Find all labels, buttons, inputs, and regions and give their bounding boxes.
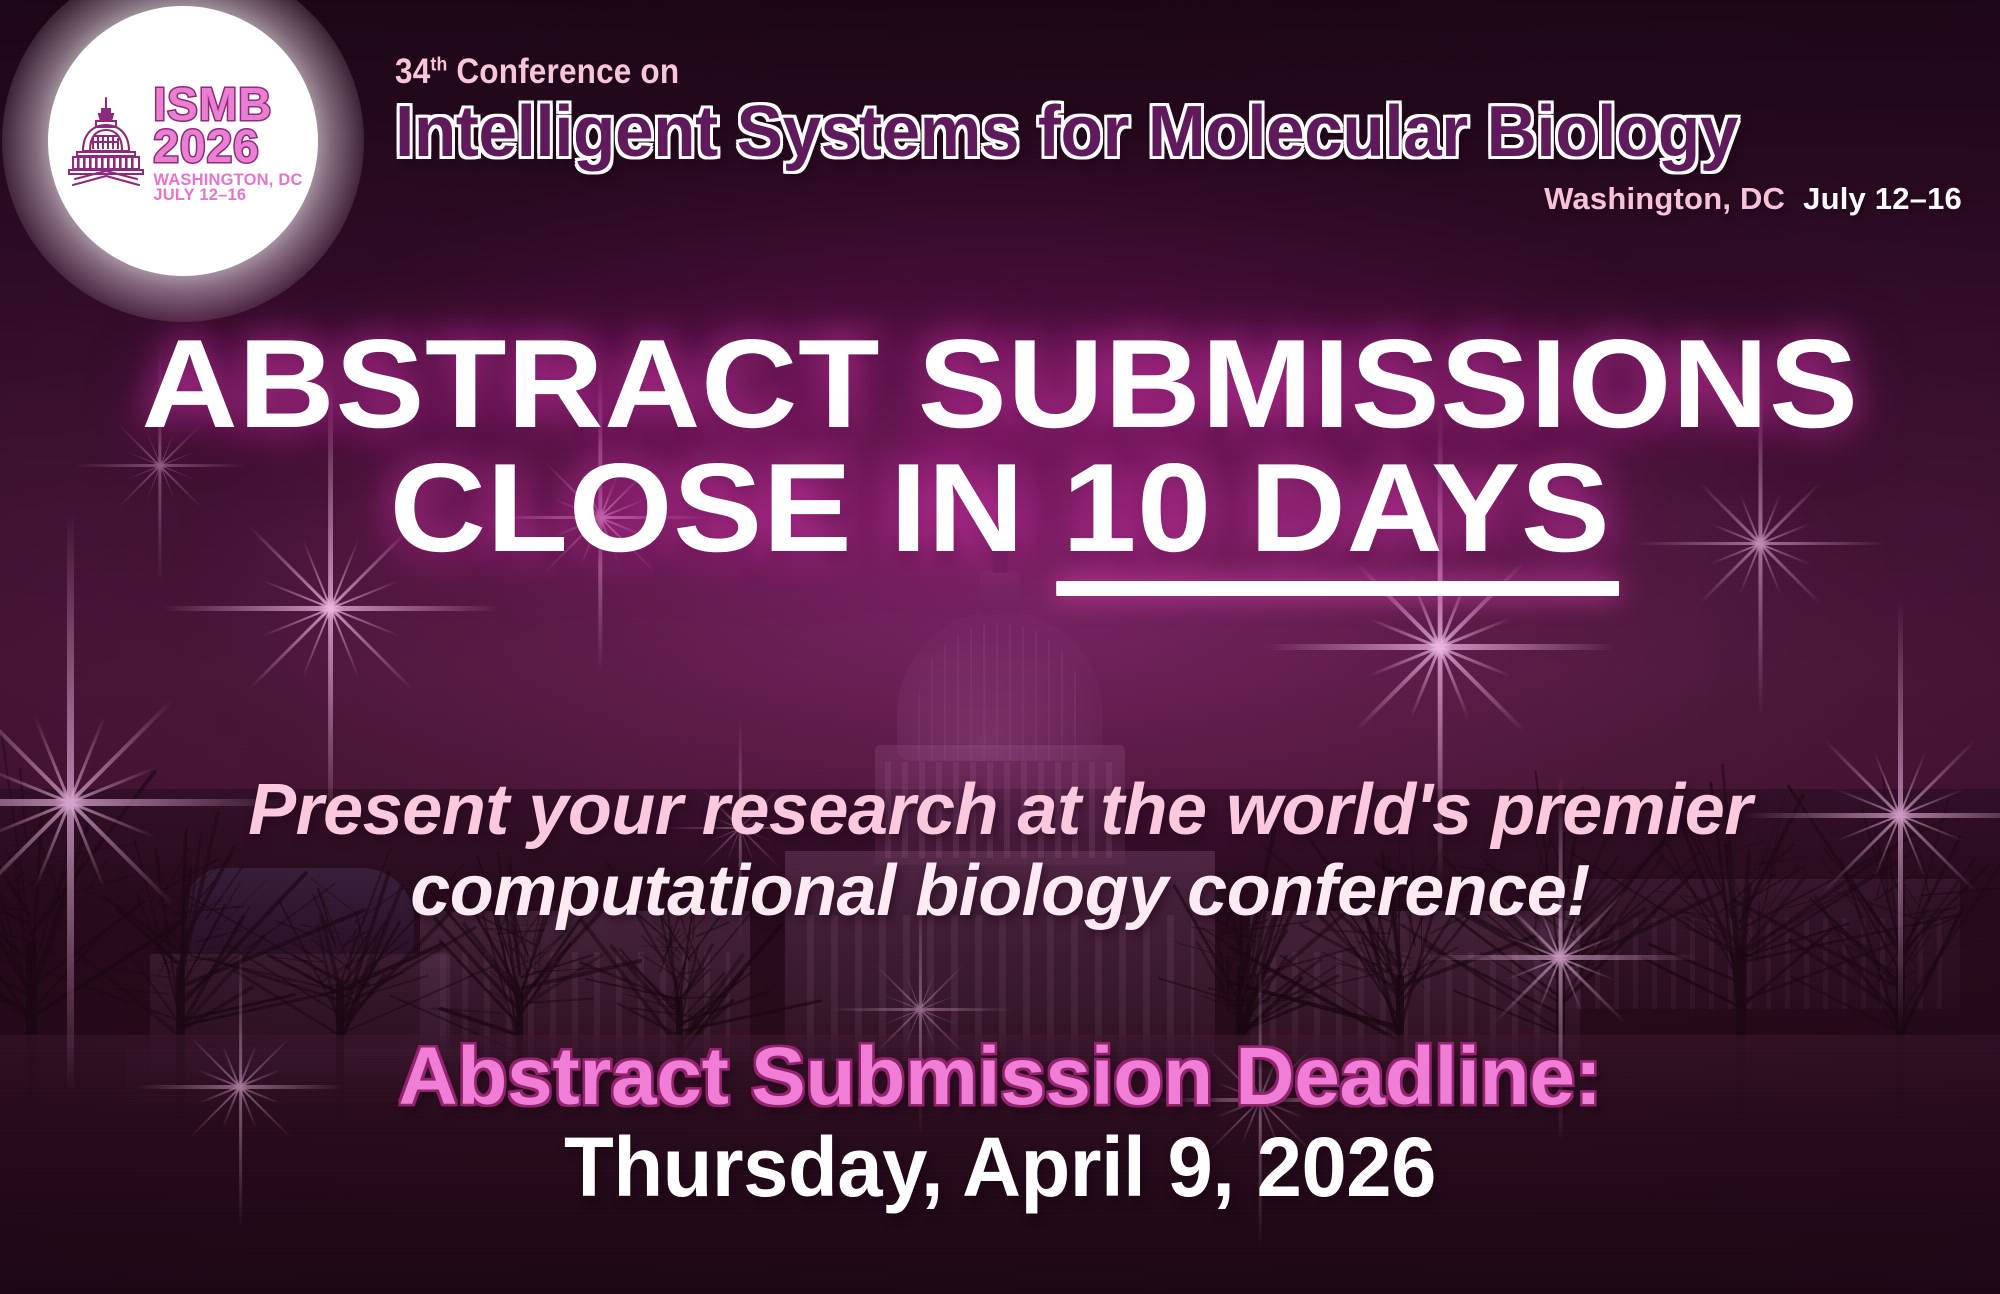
- conference-location: Washington, DC: [1544, 181, 1785, 216]
- kicker-text: Conference on: [456, 52, 679, 91]
- logo-white-disc: ISMB 2026 WASHINGTON, DC JULY 12–16: [48, 6, 318, 276]
- deadline-block: Abstract Submission Deadline: Thursday, …: [0, 1035, 2000, 1210]
- logo-acronym: ISMB: [153, 83, 302, 125]
- kicker-ordinal-suffix: th: [430, 53, 447, 75]
- conference-ordinal-kicker: 34th Conference on: [395, 52, 1813, 92]
- capitol-dome-icon: [63, 95, 149, 191]
- logo-year: 2026: [153, 125, 302, 167]
- kicker-number: 34: [395, 52, 430, 91]
- content-layer: ISMB 2026 WASHINGTON, DC JULY 12–16 34th…: [0, 0, 2000, 1294]
- ismb-logo-badge[interactable]: ISMB 2026 WASHINGTON, DC JULY 12–16: [48, 6, 318, 276]
- deadline-date: Thursday, April 9, 2026: [30, 1125, 1970, 1211]
- headline-days-emphasis: 10 DAYS: [1062, 446, 1610, 570]
- tagline: Present your research at the world's pre…: [0, 770, 2000, 933]
- promo-banner: ISMB 2026 WASHINGTON, DC JULY 12–16 34th…: [0, 0, 2000, 1294]
- deadline-label: Abstract Submission Deadline:: [0, 1035, 2000, 1119]
- main-headline: ABSTRACT SUBMISSIONS CLOSE IN 10 DAYS: [0, 322, 2000, 570]
- headline-line-1: ABSTRACT SUBMISSIONS: [0, 322, 2000, 446]
- logo-dates: JULY 12–16: [153, 188, 302, 203]
- headline-line-2-prefix: CLOSE IN: [390, 437, 1063, 578]
- tagline-line-1: Present your research at the world's pre…: [0, 770, 2000, 851]
- conference-title: Intelligent Systems for Molecular Biolog…: [395, 96, 1915, 169]
- conference-location-dates: Washington, DCJuly 12–16: [395, 181, 1970, 217]
- conference-dates: July 12–16: [1803, 181, 1962, 216]
- conference-header: 34th Conference on Intelligent Systems f…: [395, 52, 1970, 217]
- headline-line-2: CLOSE IN 10 DAYS: [0, 446, 2000, 570]
- tagline-line-2: computational biology conference!: [0, 851, 2000, 932]
